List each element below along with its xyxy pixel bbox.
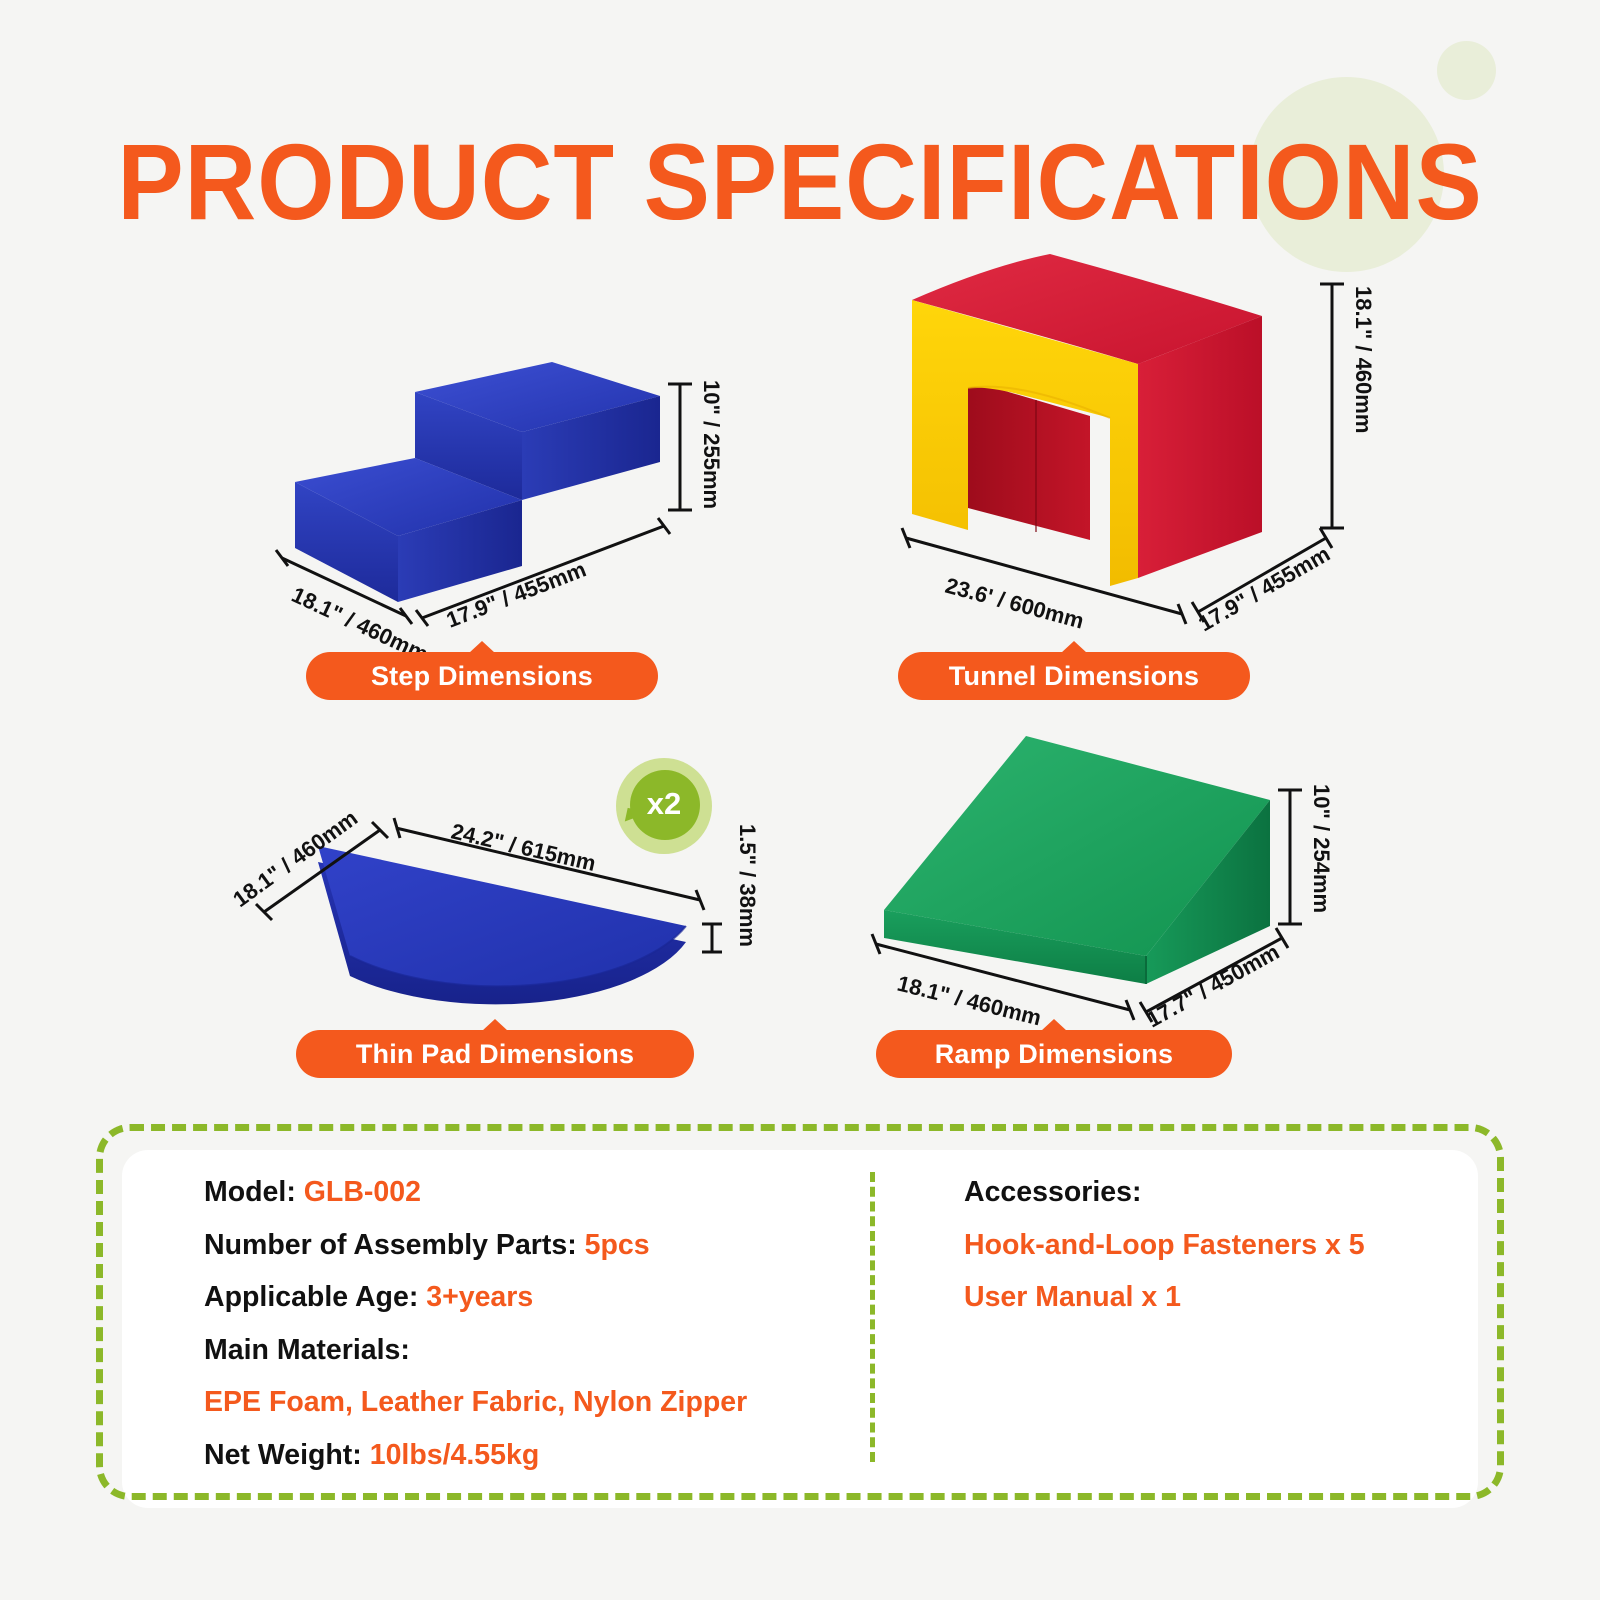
quantity-badge-x2: x2 xyxy=(616,758,712,854)
spec-label-materials: Main Materials: xyxy=(204,1334,410,1366)
decorative-circle-small xyxy=(1437,41,1496,100)
spec-label-parts: Number of Assembly Parts: xyxy=(204,1229,585,1261)
dim-thinpad-thickness: 1.5" / 38mm xyxy=(735,824,760,947)
dim-tunnel-height: 18.1" / 460mm xyxy=(1351,286,1376,433)
product-illustration-step: 18.1" / 460mm 17.9" / 455mm 10" / 255mm xyxy=(260,340,720,650)
spec-row-accessory-manual: User Manual x 1 xyxy=(964,1283,1434,1312)
specifications-right-column: Accessories: Hook-and-Loop Fasteners x 5… xyxy=(964,1178,1434,1336)
spec-label-model: Model: xyxy=(204,1176,304,1208)
specifications-column-divider xyxy=(870,1172,875,1462)
product-illustration-ramp: 18.1" / 460mm 17.7" / 450mm 10" / 254mm xyxy=(830,720,1360,1030)
spec-row-parts: Number of Assembly Parts: 5pcs xyxy=(204,1231,854,1260)
spec-row-age: Applicable Age: 3+years xyxy=(204,1283,854,1312)
spec-value-model: GLB-002 xyxy=(304,1176,421,1208)
spec-row-accessory-fasteners: Hook-and-Loop Fasteners x 5 xyxy=(964,1231,1434,1260)
spec-value-weight: 10lbs/4.55kg xyxy=(370,1439,540,1471)
spec-row-weight: Net Weight: 10lbs/4.55kg xyxy=(204,1441,854,1470)
label-thin-pad-dimensions: Thin Pad Dimensions xyxy=(296,1030,694,1078)
dim-ramp-width: 18.1" / 460mm xyxy=(895,971,1044,1031)
label-tunnel-dimensions: Tunnel Dimensions xyxy=(898,652,1250,700)
specifications-box: Model: GLB-002 Number of Assembly Parts:… xyxy=(96,1124,1504,1500)
page-title: PRODUCT SPECIFICATIONS xyxy=(64,128,1536,236)
label-step-dimensions: Step Dimensions xyxy=(306,652,658,700)
label-ramp-dimensions: Ramp Dimensions xyxy=(876,1030,1232,1078)
infographic-canvas: PRODUCT SPECIFICATIONS xyxy=(0,0,1600,1600)
badge-label: x2 xyxy=(616,758,712,850)
dim-step-height: 10" / 255mm xyxy=(699,380,724,509)
dim-ramp-height: 10" / 254mm xyxy=(1309,784,1334,913)
specifications-left-column: Model: GLB-002 Number of Assembly Parts:… xyxy=(204,1178,854,1493)
spec-label-age: Applicable Age: xyxy=(204,1281,426,1313)
product-illustration-tunnel: 23.6' / 600mm 17.9" / 455mm 18.1" / 460m… xyxy=(860,240,1380,640)
dim-thinpad-width: 24.2" / 615mm xyxy=(449,819,598,877)
dim-tunnel-depth: 17.9" / 455mm xyxy=(1194,541,1334,636)
spec-row-materials-label: Main Materials: xyxy=(204,1336,854,1365)
spec-value-age: 3+years xyxy=(426,1281,533,1313)
spec-label-weight: Net Weight: xyxy=(204,1439,370,1471)
spec-label-accessories: Accessories: xyxy=(964,1176,1141,1208)
spec-row-model: Model: GLB-002 xyxy=(204,1178,854,1207)
spec-value-parts: 5pcs xyxy=(585,1229,650,1261)
spec-row-accessories-label: Accessories: xyxy=(964,1178,1434,1207)
spec-row-materials-value: EPE Foam, Leather Fabric, Nylon Zipper xyxy=(204,1388,854,1417)
